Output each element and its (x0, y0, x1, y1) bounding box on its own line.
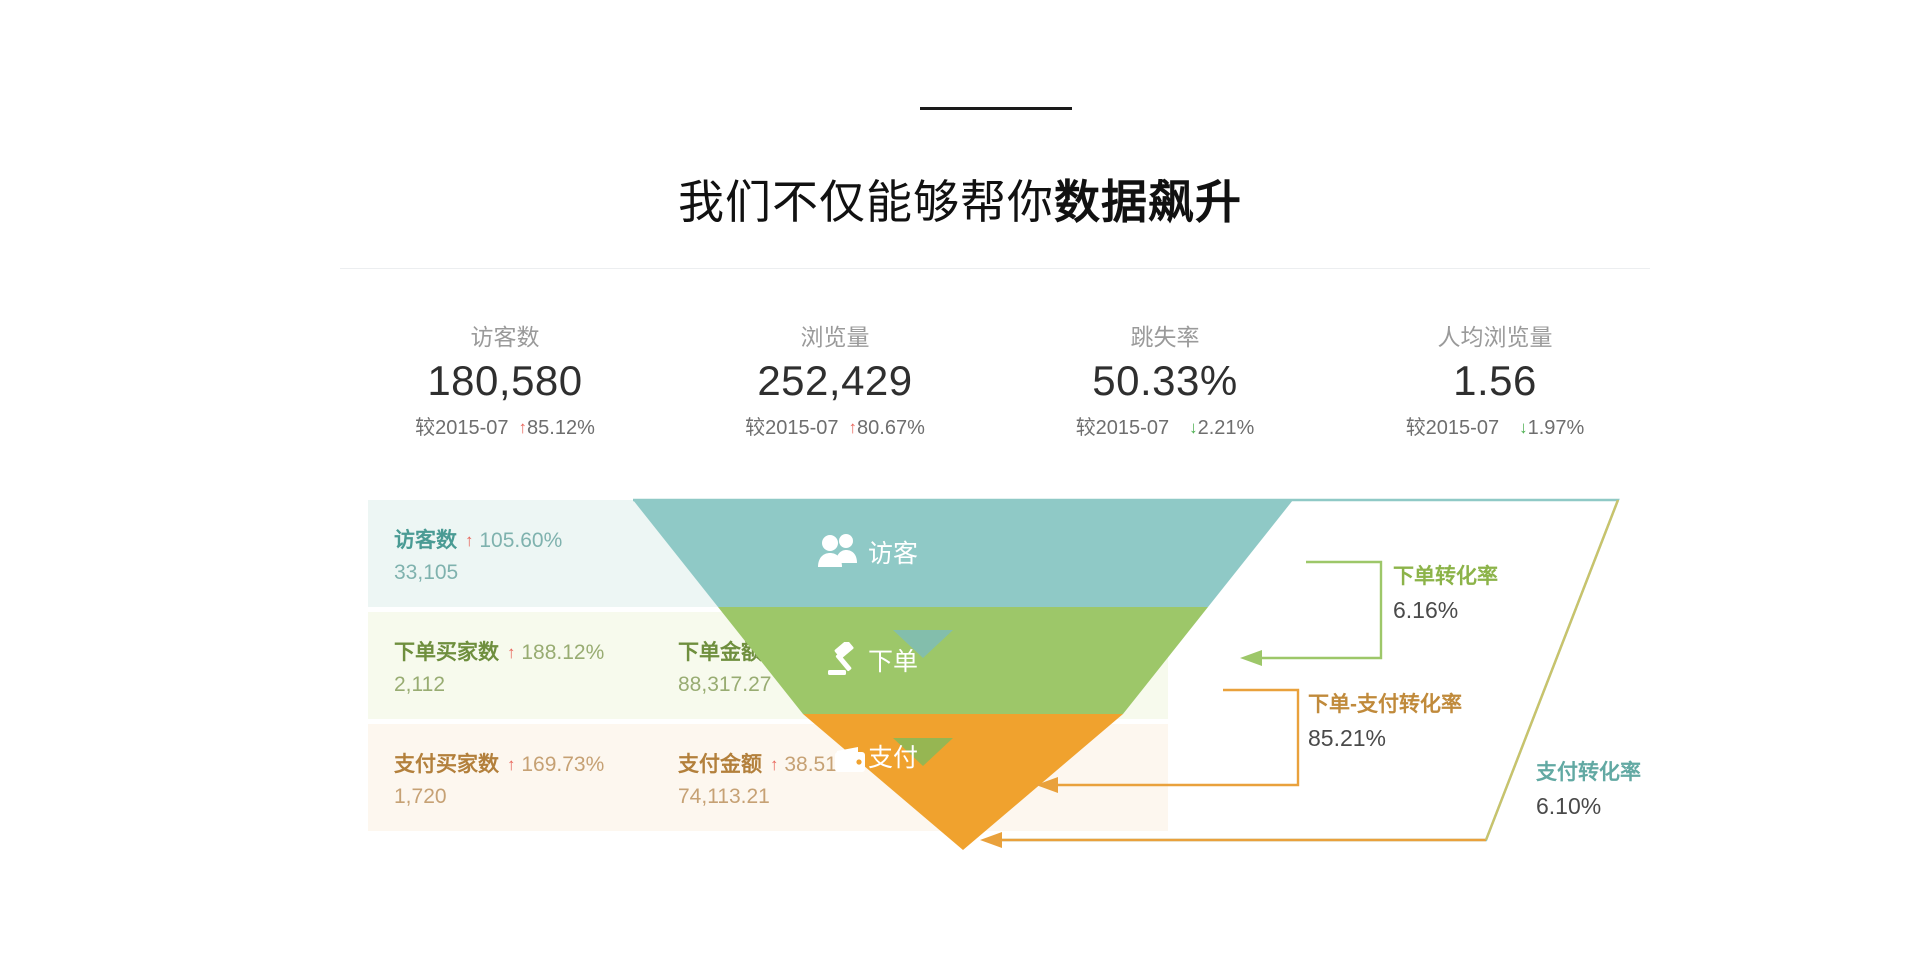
funnel-layer-pay (803, 714, 1123, 850)
funnel-layer-label-visitor: 访客 (868, 538, 918, 570)
kpi-compare-label: 较2015-07 (415, 417, 508, 439)
dashboard-page: 我们不仅能够帮你数据飙升 访客数 180,580 较2015-07↑85.12%… (0, 0, 1920, 962)
arrow-up-icon: ↑ (519, 418, 528, 438)
kpi-delta-value: 80.67% (857, 417, 925, 439)
conversion-pay: 支付转化率 6.10% (1536, 758, 1641, 822)
funnel-layer-label-order: 下单 (868, 646, 918, 678)
kpi-visitors: 访客数 180,580 较2015-07↑85.12% (340, 322, 670, 442)
arrow-up-icon: ↑ (849, 418, 858, 438)
funnel-layer-visitor (633, 500, 1293, 607)
section-divider (340, 268, 1650, 269)
kpi-label: 浏览量 (670, 322, 1000, 352)
page-title-bold: 数据飙升 (1054, 176, 1242, 228)
kpi-compare-label: 较2015-07 (1076, 417, 1169, 439)
kpi-delta: 较2015-07↓1.97% (1330, 414, 1660, 442)
kpi-compare-label: 较2015-07 (745, 417, 838, 439)
title-rule (920, 107, 1072, 110)
conversion-funnel: 访客数↑ 105.60% 33,105 下单买家数↑ 188.12% 2,112… (368, 500, 1618, 850)
conversion-order-pay: 下单-支付转化率 85.21% (1308, 690, 1462, 754)
kpi-delta-value: 85.12% (527, 417, 595, 439)
kpi-delta: 较2015-07↓2.21% (1000, 414, 1330, 442)
kpi-label: 人均浏览量 (1330, 322, 1660, 352)
gavel-icon (826, 642, 866, 683)
conversion-value: 85.21% (1308, 722, 1462, 754)
conversion-name: 下单-支付转化率 (1308, 690, 1462, 720)
kpi-value: 180,580 (340, 354, 670, 408)
conversion-name: 支付转化率 (1536, 758, 1641, 788)
kpi-bounce-rate: 跳失率 50.33% 较2015-07↓2.21% (1000, 322, 1330, 442)
kpi-label: 访客数 (340, 322, 670, 352)
kpi-value: 252,429 (670, 354, 1000, 408)
conversion-order: 下单转化率 6.16% (1393, 562, 1498, 626)
funnel-layer-label-pay: 支付 (868, 742, 918, 774)
kpi-delta-value: 2.21% (1198, 417, 1255, 439)
kpi-value: 1.56 (1330, 354, 1660, 408)
arrow-down-icon: ↓ (1519, 418, 1528, 438)
bracket-order-conversion (1256, 562, 1381, 658)
kpi-label: 跳失率 (1000, 322, 1330, 352)
kpi-value: 50.33% (1000, 354, 1330, 408)
kpi-delta: 较2015-07↑80.67% (670, 414, 1000, 442)
kpi-compare-label: 较2015-07 (1406, 417, 1499, 439)
arrow-down-icon: ↓ (1189, 418, 1198, 438)
kpi-delta-value: 1.97% (1528, 417, 1585, 439)
wallet-icon (834, 745, 872, 780)
users-icon (816, 533, 860, 574)
kpi-delta: 较2015-07↑85.12% (340, 414, 670, 442)
kpi-pageviews: 浏览量 252,429 较2015-07↑80.67% (670, 322, 1000, 442)
conversion-value: 6.10% (1536, 790, 1641, 822)
funnel-layer-order (718, 607, 1208, 714)
page-title: 我们不仅能够帮你数据飙升 (0, 171, 1920, 233)
kpi-row: 访客数 180,580 较2015-07↑85.12% 浏览量 252,429 … (340, 322, 1660, 442)
kpi-pages-per-visitor: 人均浏览量 1.56 较2015-07↓1.97% (1330, 322, 1660, 442)
page-title-normal: 我们不仅能够帮你 (678, 176, 1054, 228)
arrow-head-order (1240, 650, 1262, 666)
conversion-name: 下单转化率 (1393, 562, 1498, 592)
conversion-value: 6.16% (1393, 594, 1498, 626)
funnel-graphic (368, 500, 1618, 850)
